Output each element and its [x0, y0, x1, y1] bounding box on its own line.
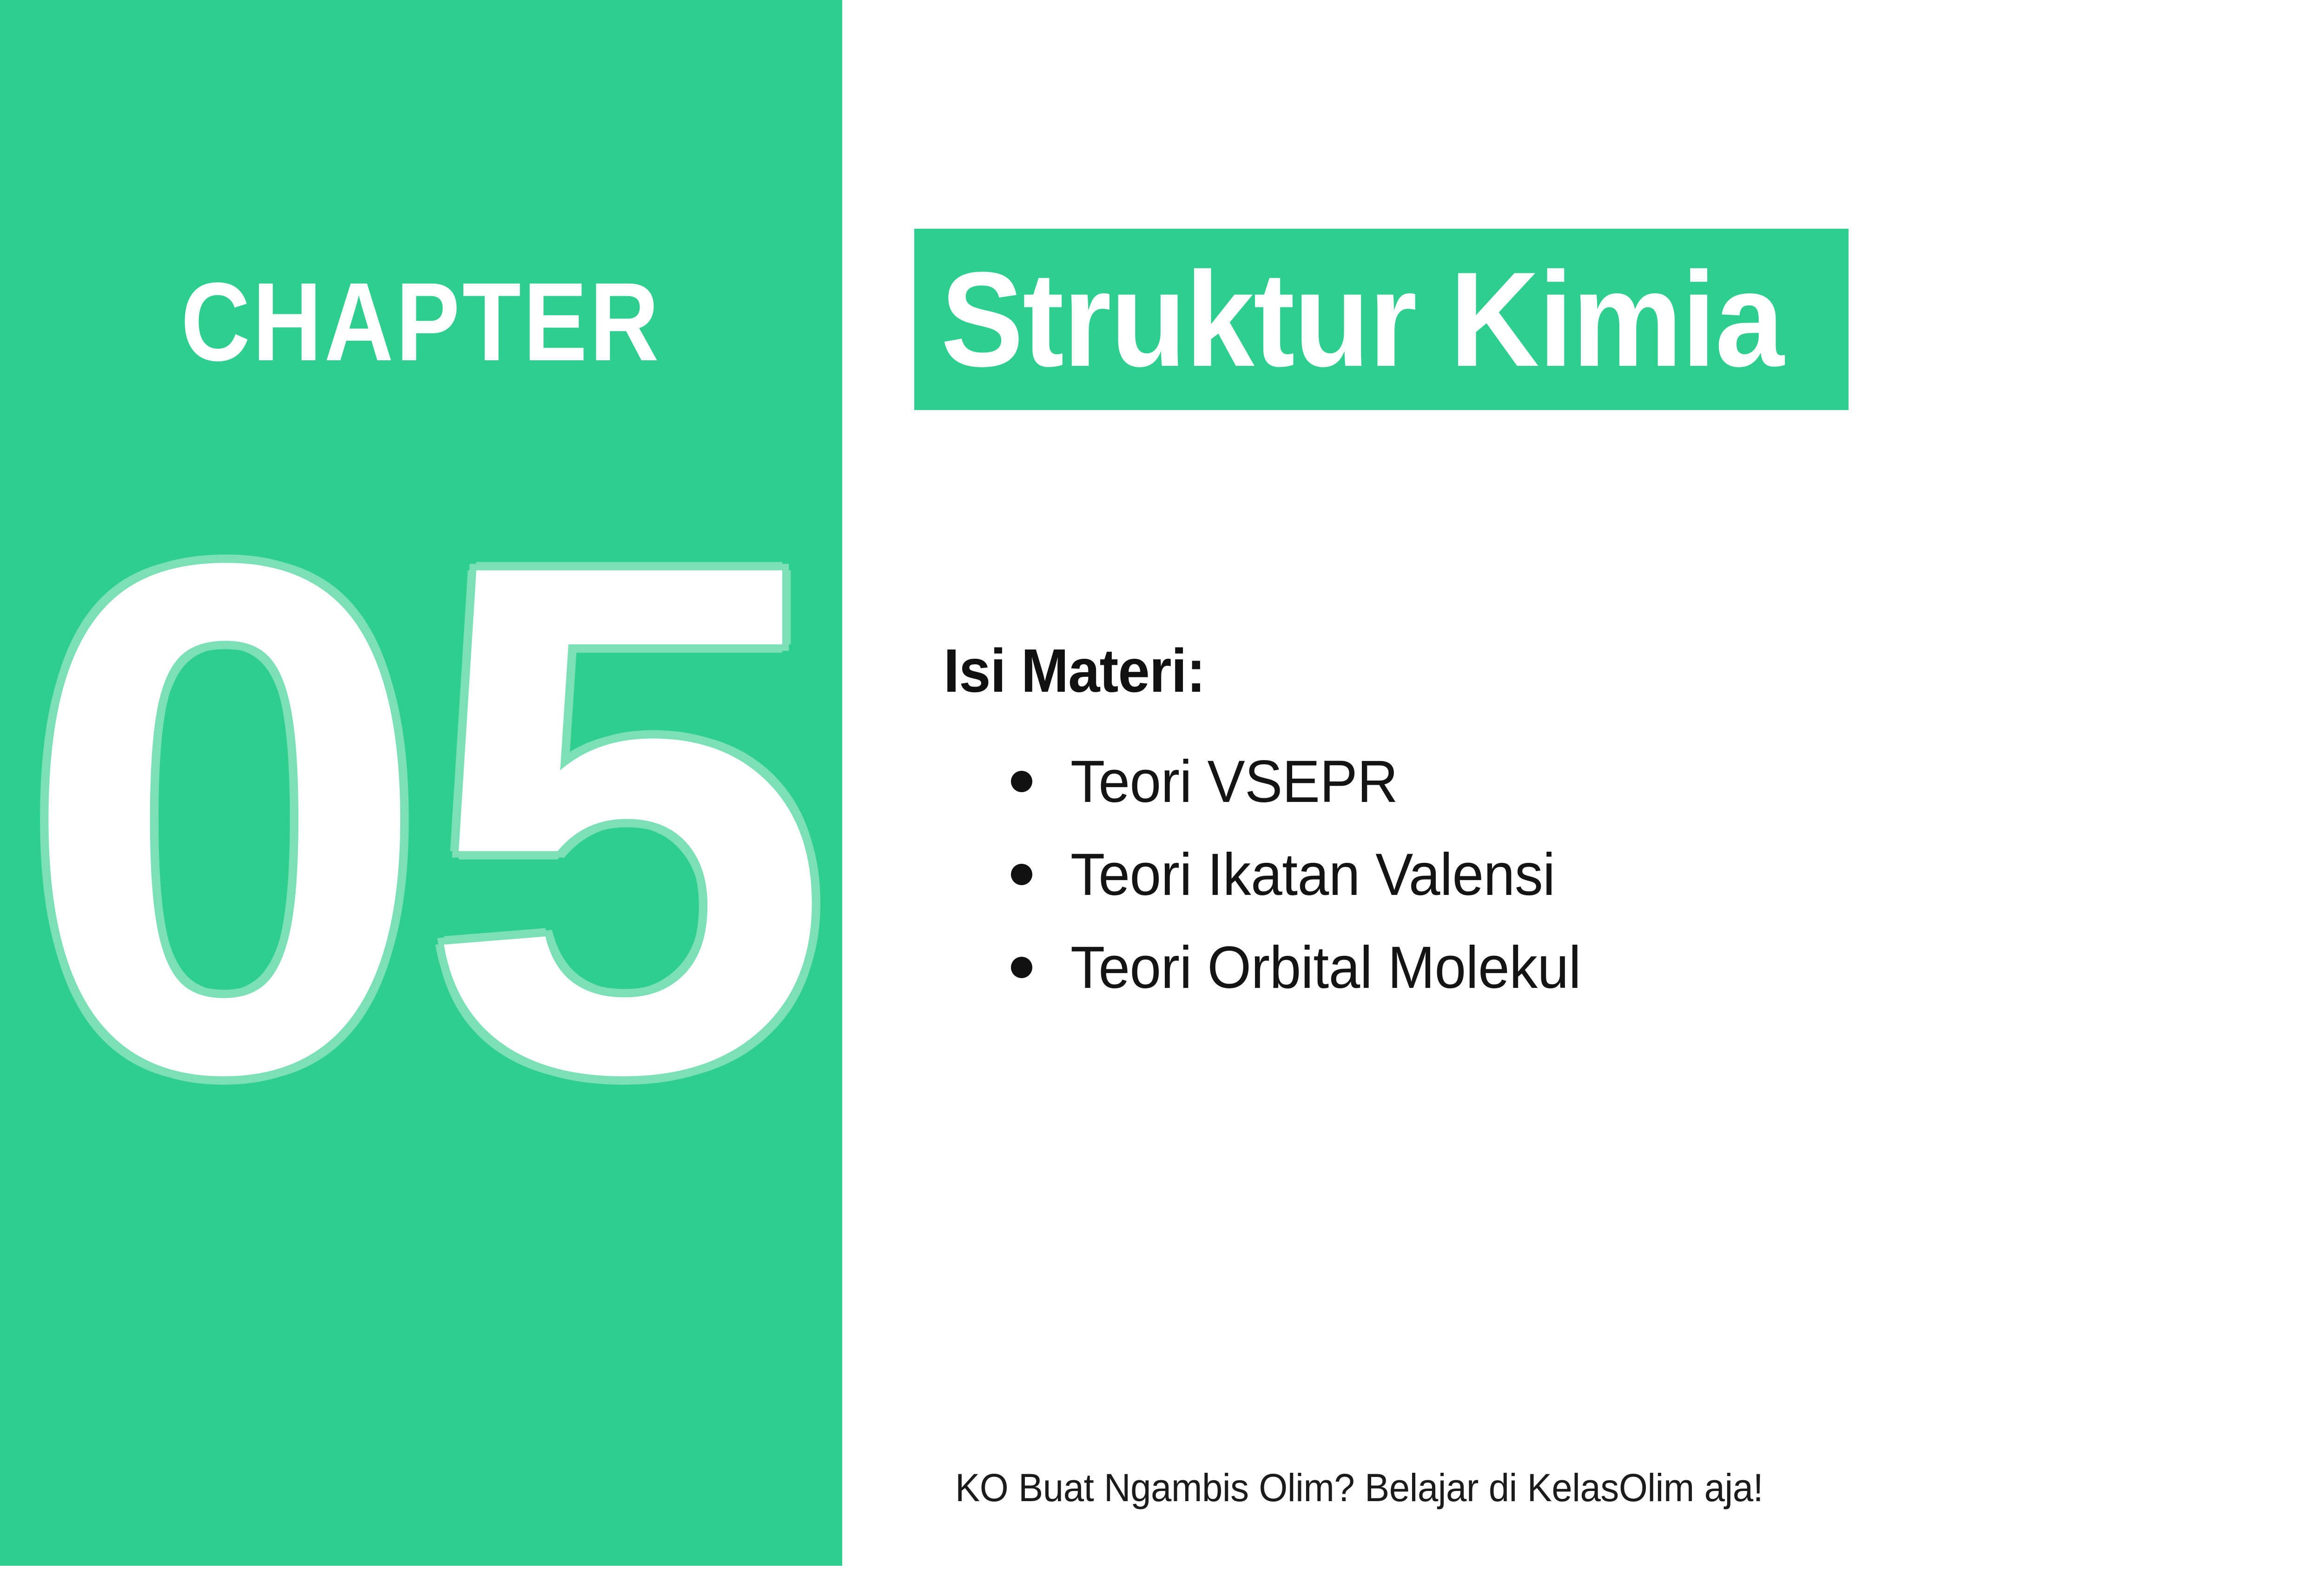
slide-title-box: Struktur Kimia	[914, 229, 1849, 410]
slide-canvas: CHAPTER 05 Struktur Kimia Isi Materi: Te…	[0, 0, 2324, 1569]
bullet-dot-icon	[1011, 864, 1032, 885]
chapter-side-panel: CHAPTER 05	[0, 0, 842, 1566]
slide-title: Struktur Kimia	[914, 252, 1783, 387]
list-item: Teori VSEPR	[1011, 747, 1608, 840]
list-item: Teori Orbital Molekul	[1011, 933, 1608, 1026]
chapter-label: CHAPTER	[59, 266, 783, 377]
footer-tagline: KO Buat Ngambis Olim? Belajar di KelasOl…	[955, 1464, 1763, 1511]
bullet-dot-icon	[1011, 771, 1032, 792]
list-item-label: Teori Ikatan Valensi	[1070, 840, 1555, 910]
list-item-label: Teori Orbital Molekul	[1070, 933, 1581, 1003]
bullet-dot-icon	[1011, 957, 1032, 978]
chapter-number: 05	[0, 456, 851, 1181]
list-item-label: Teori VSEPR	[1070, 747, 1398, 817]
topic-list: Teori VSEPR Teori Ikatan Valensi Teori O…	[1011, 747, 1608, 1026]
list-item: Teori Ikatan Valensi	[1011, 840, 1608, 933]
section-heading: Isi Materi:	[944, 636, 1205, 706]
